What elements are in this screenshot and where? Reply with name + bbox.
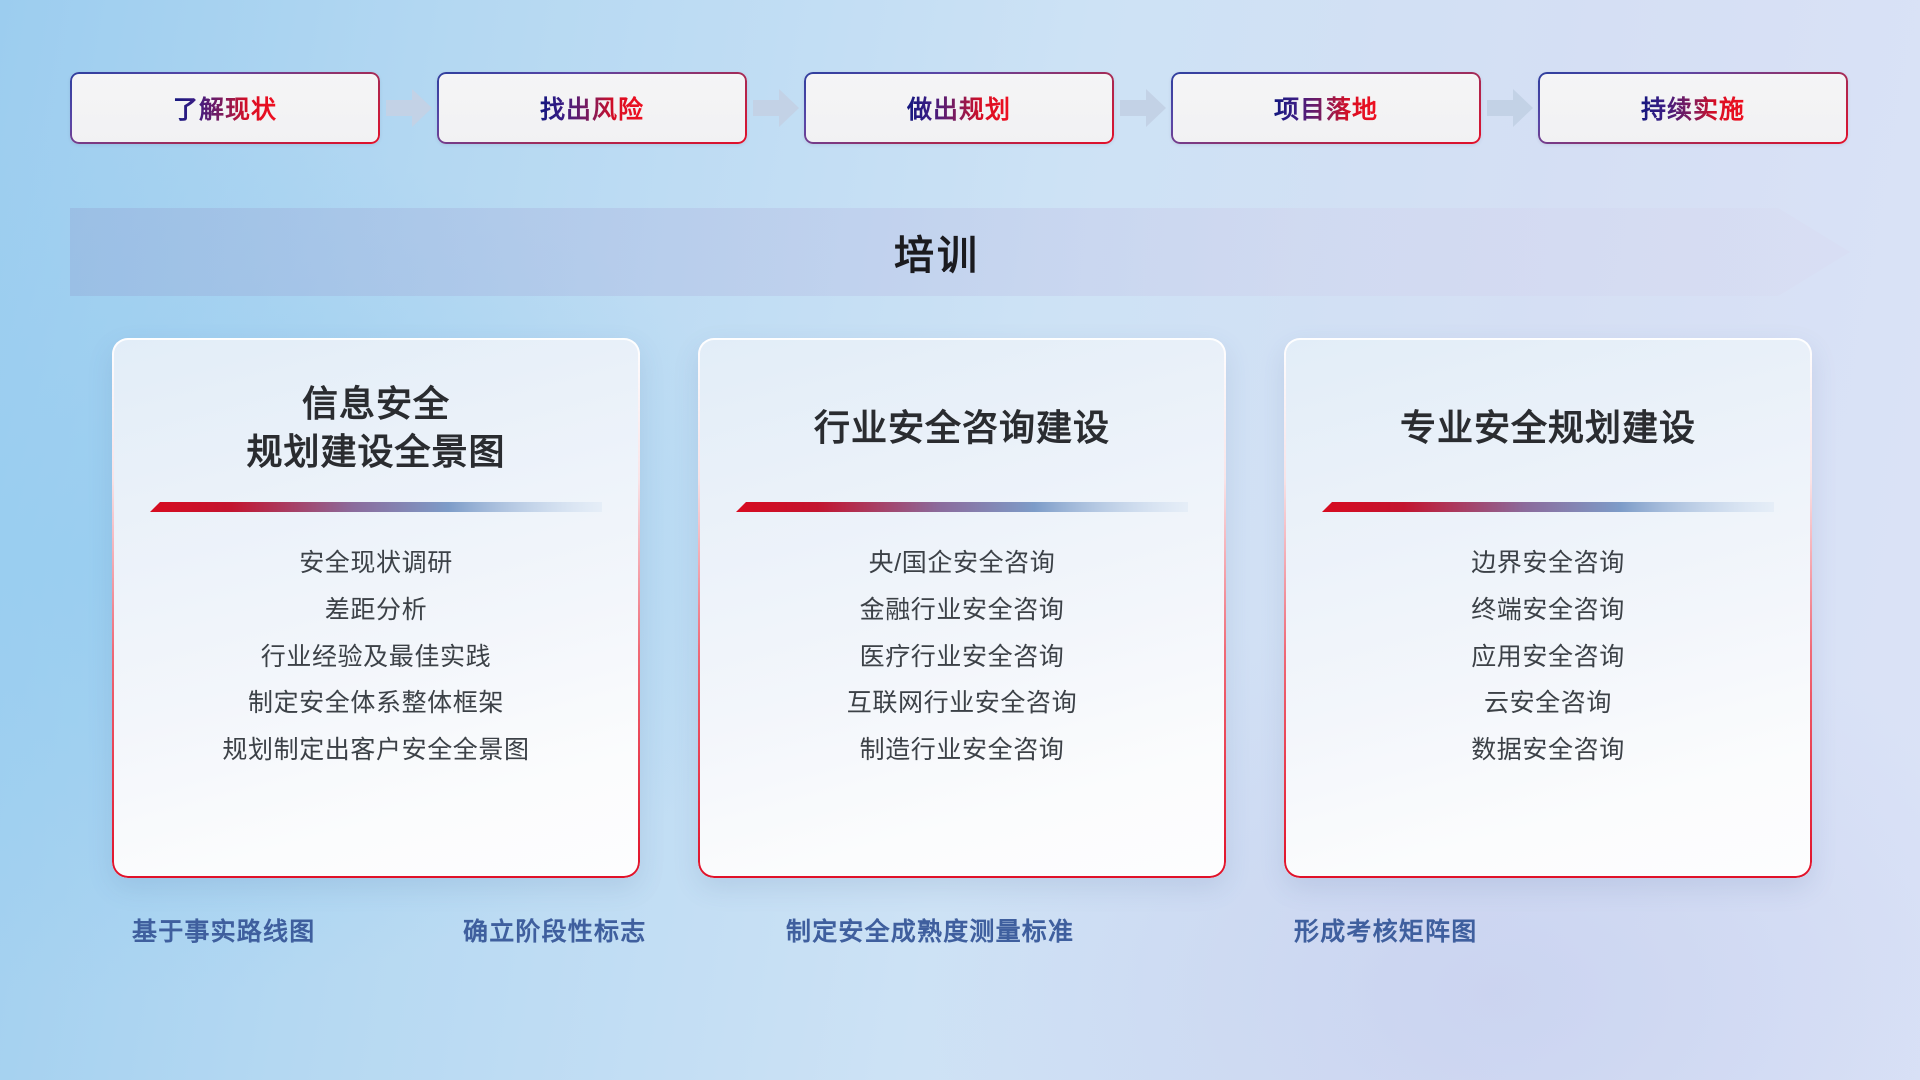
card-1-title: 信息安全 规划建设全景图	[246, 380, 505, 476]
step-label-3: 做出规划	[907, 90, 1011, 126]
caption-row: 基于事实路线图 确立阶段性标志 制定安全成熟度测量标准 形成考核矩阵图	[0, 912, 1920, 962]
caption-2: 确立阶段性标志	[463, 912, 646, 948]
caption-1: 基于事实路线图	[132, 912, 315, 948]
list-item: 央/国企安全咨询	[869, 547, 1056, 581]
card-1-divider	[150, 502, 602, 515]
card-1-title-line-2: 规划建设全景图	[246, 428, 505, 476]
list-item: 医疗行业安全咨询	[860, 641, 1065, 675]
step-box-1[interactable]: 了解现状	[70, 72, 380, 144]
card-2-divider	[736, 502, 1188, 515]
step-box-3[interactable]: 做出规划	[804, 72, 1114, 144]
card-2-list: 央/国企安全咨询 金融行业安全咨询 医疗行业安全咨询 互联网行业安全咨询 制造行…	[847, 547, 1077, 768]
step-box-2[interactable]: 找出风险	[437, 72, 747, 144]
list-item: 应用安全咨询	[1471, 641, 1625, 675]
card-3-list: 边界安全咨询 终端安全咨询 应用安全咨询 云安全咨询 数据安全咨询	[1471, 547, 1625, 768]
card-2[interactable]: 行业安全咨询建设	[698, 338, 1226, 878]
arrow-right-icon	[747, 72, 804, 144]
card-3-title-line-1: 专业安全规划建设	[1400, 404, 1696, 452]
step-label-2: 找出风险	[540, 90, 644, 126]
arrow-right-icon	[1114, 72, 1171, 144]
arrow-right-icon	[380, 72, 437, 144]
card-2-title: 行业安全咨询建设	[814, 380, 1110, 476]
list-item: 制造行业安全咨询	[860, 734, 1065, 768]
caption-3: 制定安全成熟度测量标准	[786, 912, 1074, 948]
list-item: 终端安全咨询	[1471, 594, 1625, 628]
arrow-right-icon	[1481, 72, 1538, 144]
list-item: 金融行业安全咨询	[860, 594, 1065, 628]
card-2-title-line-1: 行业安全咨询建设	[814, 404, 1110, 452]
card-row: 信息安全 规划建设全景图	[112, 338, 1812, 878]
list-item: 云安全咨询	[1484, 687, 1612, 721]
list-item: 安全现状调研	[299, 547, 453, 581]
step-box-4[interactable]: 项目落地	[1171, 72, 1481, 144]
slide-canvas: 了解现状 找出风险 做出规划 项目落地	[0, 0, 1920, 1080]
card-3[interactable]: 专业安全规划建设	[1284, 338, 1812, 878]
list-item: 边界安全咨询	[1471, 547, 1625, 581]
step-label-5: 持续实施	[1641, 90, 1745, 126]
card-1-list: 安全现状调研 差距分析 行业经验及最佳实践 制定安全体系整体框架 规划制定出客户…	[222, 547, 529, 768]
step-box-5[interactable]: 持续实施	[1538, 72, 1848, 144]
step-label-4: 项目落地	[1274, 90, 1378, 126]
list-item: 互联网行业安全咨询	[847, 687, 1077, 721]
list-item: 规划制定出客户安全全景图	[222, 734, 529, 768]
card-1[interactable]: 信息安全 规划建设全景图	[112, 338, 640, 878]
banner-title: 培训	[70, 208, 1850, 296]
caption-4: 形成考核矩阵图	[1294, 912, 1477, 948]
step-label-1: 了解现状	[173, 90, 277, 126]
list-item: 差距分析	[325, 594, 427, 628]
list-item: 数据安全咨询	[1471, 734, 1625, 768]
training-banner: 培训	[70, 208, 1850, 296]
card-3-divider	[1322, 502, 1774, 515]
list-item: 行业经验及最佳实践	[261, 641, 491, 675]
card-3-title: 专业安全规划建设	[1400, 380, 1696, 476]
list-item: 制定安全体系整体框架	[248, 687, 504, 721]
card-1-title-line-1: 信息安全	[246, 380, 505, 428]
process-step-row: 了解现状 找出风险 做出规划 项目落地	[70, 72, 1850, 144]
